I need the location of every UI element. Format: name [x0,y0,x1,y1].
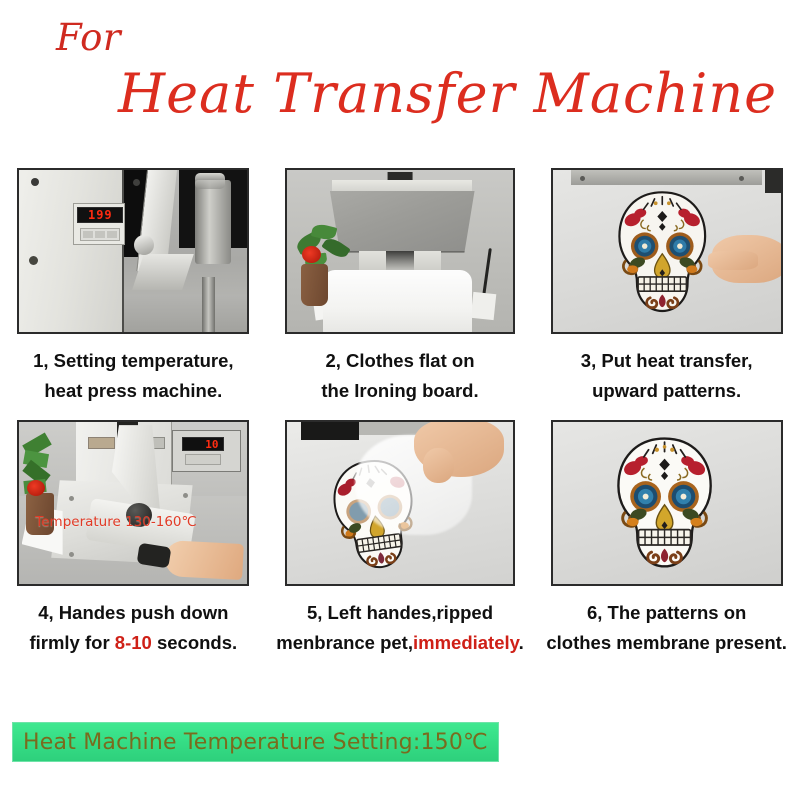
board-right-flap [471,292,496,320]
caption-highlight: 8-10 [115,632,152,653]
step-1-caption: 1, Setting temperature, heat press machi… [6,346,261,406]
step-card-3: 3, Put heat transfer, upward patterns. [533,168,800,406]
caption-text-post: seconds. [152,632,237,653]
temperature-controller[interactable]: 199 [73,203,125,245]
step-6-caption: 6, The patterns on clothes membrane pres… [539,598,794,658]
step-3-caption: 3, Put heat transfer, upward patterns. [539,346,794,406]
timer-display-value: 10 [205,439,218,450]
sugar-skull-design [603,435,726,571]
temperature-setting-banner: Heat Machine Temperature Setting:150℃ [12,722,499,762]
vertical-post [195,180,231,264]
finger [423,448,455,484]
temperature-display-value: 199 [88,209,113,221]
caption-text-pre: menbrance pet, [276,632,413,653]
support-shaft [202,277,215,332]
timer-display: 10 [182,437,223,451]
caption-line-1: 4, Handes push down [6,598,261,628]
step-card-2: 2, Clothes flat on the Ironing board. [267,168,534,406]
caption-line-2: clothes membrane present. [539,628,794,658]
dark-edge [765,170,781,193]
caption-line-1: 2, Clothes flat on [272,346,527,376]
temperature-display: 199 [77,207,123,223]
controller-subpanel[interactable] [185,454,221,464]
caption-line-1: 5, Left handes,ripped [272,598,527,628]
caption-line-2: firmly for 8-10 seconds. [6,628,261,658]
caption-text-pre: firmly for [29,632,114,653]
press-frame-edge [571,170,763,185]
step-1-photo: 199 [17,168,249,334]
screw-icon [29,256,38,265]
step-card-5: 5, Left handes,ripped menbrance pet,imme… [267,420,534,658]
controller-button[interactable] [95,231,105,238]
vent-panel [88,437,115,450]
step-2-caption: 2, Clothes flat on the Ironing board. [272,346,527,406]
step-2-photo [285,168,515,334]
screw-icon [31,178,39,186]
controller-button[interactable] [107,231,117,238]
step-card-1: 199 1, Setting temperature, heat press m… [0,168,267,406]
step-5-photo [285,420,515,586]
press-arm-lower [132,254,194,290]
heat-platen [330,191,475,253]
step-4-photo: 10 Temperature 130-160℃ [17,420,249,586]
adjust-knob [195,173,225,189]
steps-grid: 199 1, Setting temperature, heat press m… [0,168,800,658]
sugar-skull-transfer [603,189,722,315]
step-4-caption: 4, Handes push down firmly for 8-10 seco… [6,598,261,658]
step-card-4: 10 Temperature 130-160℃ 4, Handes push d… [0,420,267,658]
control-panel-face: 199 [19,170,124,332]
handle-grip [136,543,171,569]
controller-inset: 10 [172,430,240,472]
page-title: Heat Transfer Machine [118,62,777,125]
step-3-photo [551,168,783,334]
banner-text: Heat Machine Temperature Setting:150℃ [23,730,488,755]
caption-line-1: 6, The patterns on [539,598,794,628]
caption-text-post: . [519,632,524,653]
controller-button[interactable] [83,231,93,238]
neck-shadow [386,251,413,272]
caption-line-2: upward patterns. [539,376,794,406]
page-header: For Heat Transfer Machine [0,0,800,152]
step-5-caption: 5, Left handes,ripped menbrance pet,imme… [272,598,527,658]
caption-line-1: 3, Put heat transfer, [539,346,794,376]
caption-line-1: 1, Setting temperature, [6,346,261,376]
operator-arm [164,540,243,580]
step-6-photo [551,420,783,586]
caption-highlight: immediately [413,632,519,653]
flower-vase [301,264,328,306]
rose-flower [302,246,321,263]
controller-buttons[interactable] [80,228,120,241]
dark-background-strip [301,422,360,440]
ironing-board [323,270,472,334]
caption-line-2: menbrance pet,immediately. [272,628,527,658]
caption-line-2: the Ironing board. [272,376,527,406]
step-card-6: 6, The patterns on clothes membrane pres… [533,420,800,658]
temperature-overlay-text: Temperature 130-160℃ [35,514,196,530]
header-line-for: For [56,16,121,59]
caption-line-2: heat press machine. [6,376,261,406]
